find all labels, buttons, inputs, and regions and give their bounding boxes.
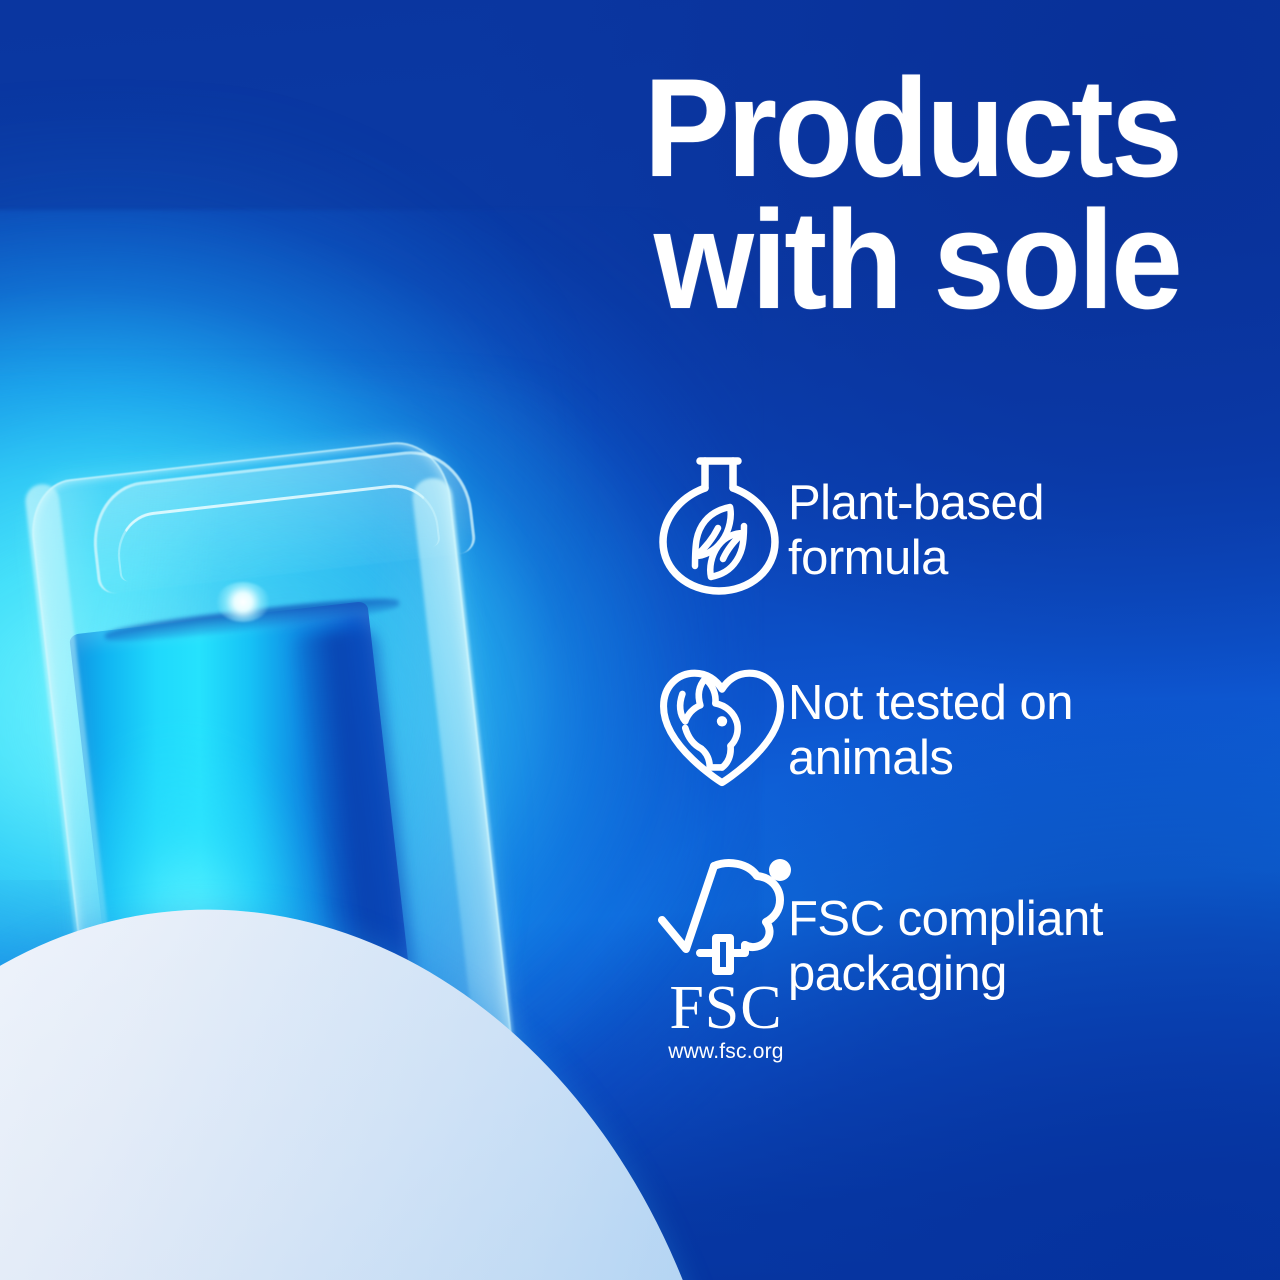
feature-label-cruelty-free: Not tested on animals bbox=[788, 658, 1228, 786]
headline-line-1: Products bbox=[481, 62, 1180, 194]
feature-list: Plant-based formula bbox=[628, 448, 1228, 1062]
fsc-logo-icon: FSC www.fsc.org bbox=[656, 854, 796, 1062]
feature-label-line-2: packaging bbox=[788, 947, 1007, 1001]
feature-item-plant-based: Plant-based formula bbox=[628, 448, 1228, 598]
feature-icon-slot bbox=[628, 448, 788, 598]
fsc-url-text: www.fsc.org bbox=[668, 1041, 783, 1062]
rabbit-eye-icon bbox=[717, 716, 727, 726]
feature-label-fsc: FSC compliant packaging bbox=[788, 854, 1228, 1002]
feature-icon-slot bbox=[628, 658, 788, 794]
feature-label-line-1: FSC compliant bbox=[788, 892, 1103, 946]
feature-icon-slot: FSC www.fsc.org bbox=[628, 854, 788, 1062]
fsc-wordmark: FSC bbox=[669, 982, 782, 1035]
feature-label-line-2: animals bbox=[788, 731, 953, 785]
feature-label-line-2: formula bbox=[788, 531, 948, 585]
fsc-tree-check-icon bbox=[656, 854, 796, 980]
social-card-canvas: Products with sole bbox=[0, 0, 1280, 1280]
feature-label-line-1: Not tested on bbox=[788, 676, 1073, 730]
headline-line-2: with sole bbox=[481, 194, 1180, 326]
page-title: Products with sole bbox=[481, 62, 1180, 325]
feature-label-line-1: Plant-based bbox=[788, 476, 1044, 530]
pod-specular-highlight bbox=[216, 582, 270, 622]
rabbit-heart-icon bbox=[656, 658, 788, 794]
feature-item-fsc: FSC www.fsc.org FSC compliant packaging bbox=[628, 854, 1228, 1062]
feature-label-plant-based: Plant-based formula bbox=[788, 448, 1228, 586]
plant-flask-icon bbox=[656, 448, 782, 598]
feature-item-cruelty-free: Not tested on animals bbox=[628, 658, 1228, 794]
